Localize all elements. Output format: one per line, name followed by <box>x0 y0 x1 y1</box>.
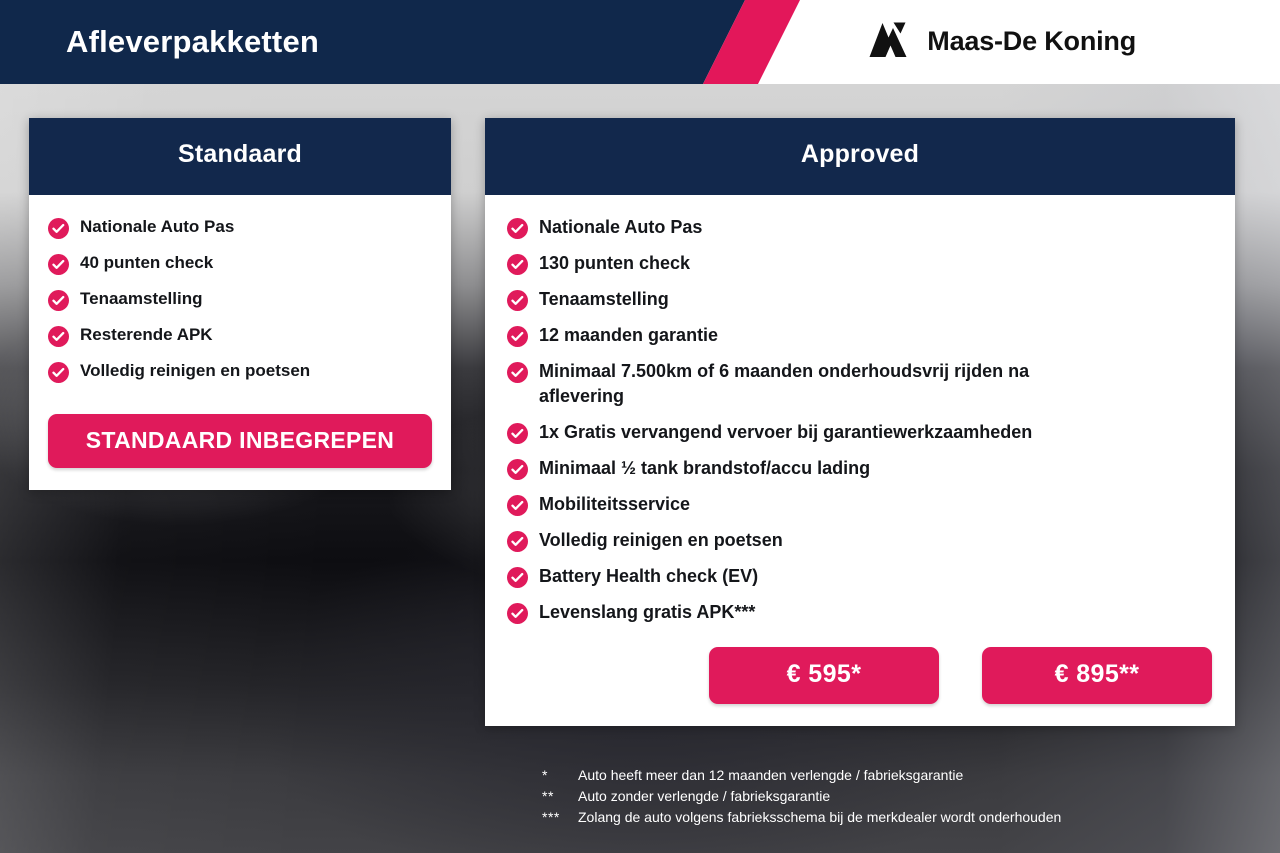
check-circle-icon <box>507 495 528 516</box>
check-circle-icon <box>48 218 69 239</box>
list-item: 12 maanden garantie <box>507 323 1213 348</box>
feature-label: 12 maanden garantie <box>539 323 718 348</box>
price-button-595[interactable]: € 595* <box>709 647 939 704</box>
check-circle-icon <box>48 362 69 383</box>
price-button-row: € 595* € 895** <box>507 647 1213 704</box>
check-circle-icon <box>507 290 528 311</box>
footnote-text: Auto zonder verlengde / fabrieksgarantie <box>578 786 830 807</box>
list-item: Battery Health check (EV) <box>507 564 1213 589</box>
check-circle-icon <box>507 603 528 624</box>
check-circle-icon <box>507 326 528 347</box>
price-button-895[interactable]: € 895** <box>982 647 1212 704</box>
footnote-row: * Auto heeft meer dan 12 maanden verleng… <box>542 765 1061 786</box>
list-item: Resterende APK <box>48 323 432 347</box>
card-body-approved: Nationale Auto Pas 130 punten check Tena… <box>485 195 1235 726</box>
footnotes: * Auto heeft meer dan 12 maanden verleng… <box>542 765 1061 828</box>
feature-label: 40 punten check <box>80 251 213 275</box>
feature-list-standaard: Nationale Auto Pas 40 punten check Tenaa… <box>48 215 432 383</box>
feature-label: Levenslang gratis APK*** <box>539 600 755 625</box>
check-circle-icon <box>48 290 69 311</box>
feature-label: Minimaal ½ tank brandstof/accu lading <box>539 456 870 481</box>
footnote-marker: *** <box>542 807 578 828</box>
list-item: Levenslang gratis APK*** <box>507 600 1213 625</box>
feature-label: Mobiliteitsservice <box>539 492 690 517</box>
list-item: 130 punten check <box>507 251 1213 276</box>
card-body-standaard: Nationale Auto Pas 40 punten check Tenaa… <box>29 195 451 490</box>
list-item: Nationale Auto Pas <box>507 215 1213 240</box>
card-header-approved: Approved <box>485 118 1235 195</box>
check-circle-icon <box>507 423 528 444</box>
list-item: Minimaal ½ tank brandstof/accu lading <box>507 456 1213 481</box>
feature-label: Nationale Auto Pas <box>80 215 234 239</box>
list-item: 1x Gratis vervangend vervoer bij garanti… <box>507 420 1213 445</box>
feature-label: Volledig reinigen en poetsen <box>80 359 310 383</box>
footnote-marker: * <box>542 765 578 786</box>
check-circle-icon <box>48 326 69 347</box>
list-item: Nationale Auto Pas <box>48 215 432 239</box>
brand-name: Maas-De Koning <box>927 26 1136 57</box>
list-item: Volledig reinigen en poetsen <box>507 528 1213 553</box>
feature-label: Tenaamstelling <box>539 287 669 312</box>
feature-label: 130 punten check <box>539 251 690 276</box>
card-header-standaard: Standaard <box>29 118 451 195</box>
feature-label: Battery Health check (EV) <box>539 564 758 589</box>
footnote-text: Zolang de auto volgens fabrieksschema bi… <box>578 807 1061 828</box>
list-item: Mobiliteitsservice <box>507 492 1213 517</box>
list-item: Tenaamstelling <box>507 287 1213 312</box>
feature-label: 1x Gratis vervangend vervoer bij garanti… <box>539 420 1032 445</box>
list-item: 40 punten check <box>48 251 432 275</box>
page-header: Afleverpakketten Maas-De Koning <box>0 0 1280 84</box>
standaard-inbegrepen-button[interactable]: STANDAARD INBEGREPEN <box>48 414 432 468</box>
check-circle-icon <box>507 254 528 275</box>
check-circle-icon <box>507 362 528 383</box>
check-circle-icon <box>507 531 528 552</box>
check-circle-icon <box>507 567 528 588</box>
card-title-standaard: Standaard <box>178 140 302 168</box>
feature-label: Volledig reinigen en poetsen <box>539 528 783 553</box>
check-circle-icon <box>507 459 528 480</box>
footnote-row: ** Auto zonder verlengde / fabrieksgaran… <box>542 786 1061 807</box>
footnote-marker: ** <box>542 786 578 807</box>
feature-label: Resterende APK <box>80 323 213 347</box>
footnote-row: *** Zolang de auto volgens fabrieksschem… <box>542 807 1061 828</box>
brand-lockup: Maas-De Koning <box>862 19 1136 64</box>
maas-de-koning-m-logo-icon <box>862 19 914 64</box>
list-item: Volledig reinigen en poetsen <box>48 359 432 383</box>
check-circle-icon <box>48 254 69 275</box>
feature-list-approved: Nationale Auto Pas 130 punten check Tena… <box>507 215 1213 625</box>
feature-label: Tenaamstelling <box>80 287 203 311</box>
page-title: Afleverpakketten <box>66 20 319 64</box>
page-root: Afleverpakketten Maas-De Koning Standaar… <box>0 0 1280 853</box>
card-title-approved: Approved <box>801 140 919 168</box>
feature-label: Nationale Auto Pas <box>539 215 702 240</box>
feature-label: Minimaal 7.500km of 6 maanden onderhouds… <box>539 359 1104 409</box>
package-card-standaard: Standaard Nationale Auto Pas 40 punten c… <box>29 118 451 490</box>
list-item: Tenaamstelling <box>48 287 432 311</box>
footnote-text: Auto heeft meer dan 12 maanden verlengde… <box>578 765 963 786</box>
list-item: Minimaal 7.500km of 6 maanden onderhouds… <box>507 359 1213 409</box>
check-circle-icon <box>507 218 528 239</box>
package-card-approved: Approved Nationale Auto Pas 130 punten c… <box>485 118 1235 726</box>
